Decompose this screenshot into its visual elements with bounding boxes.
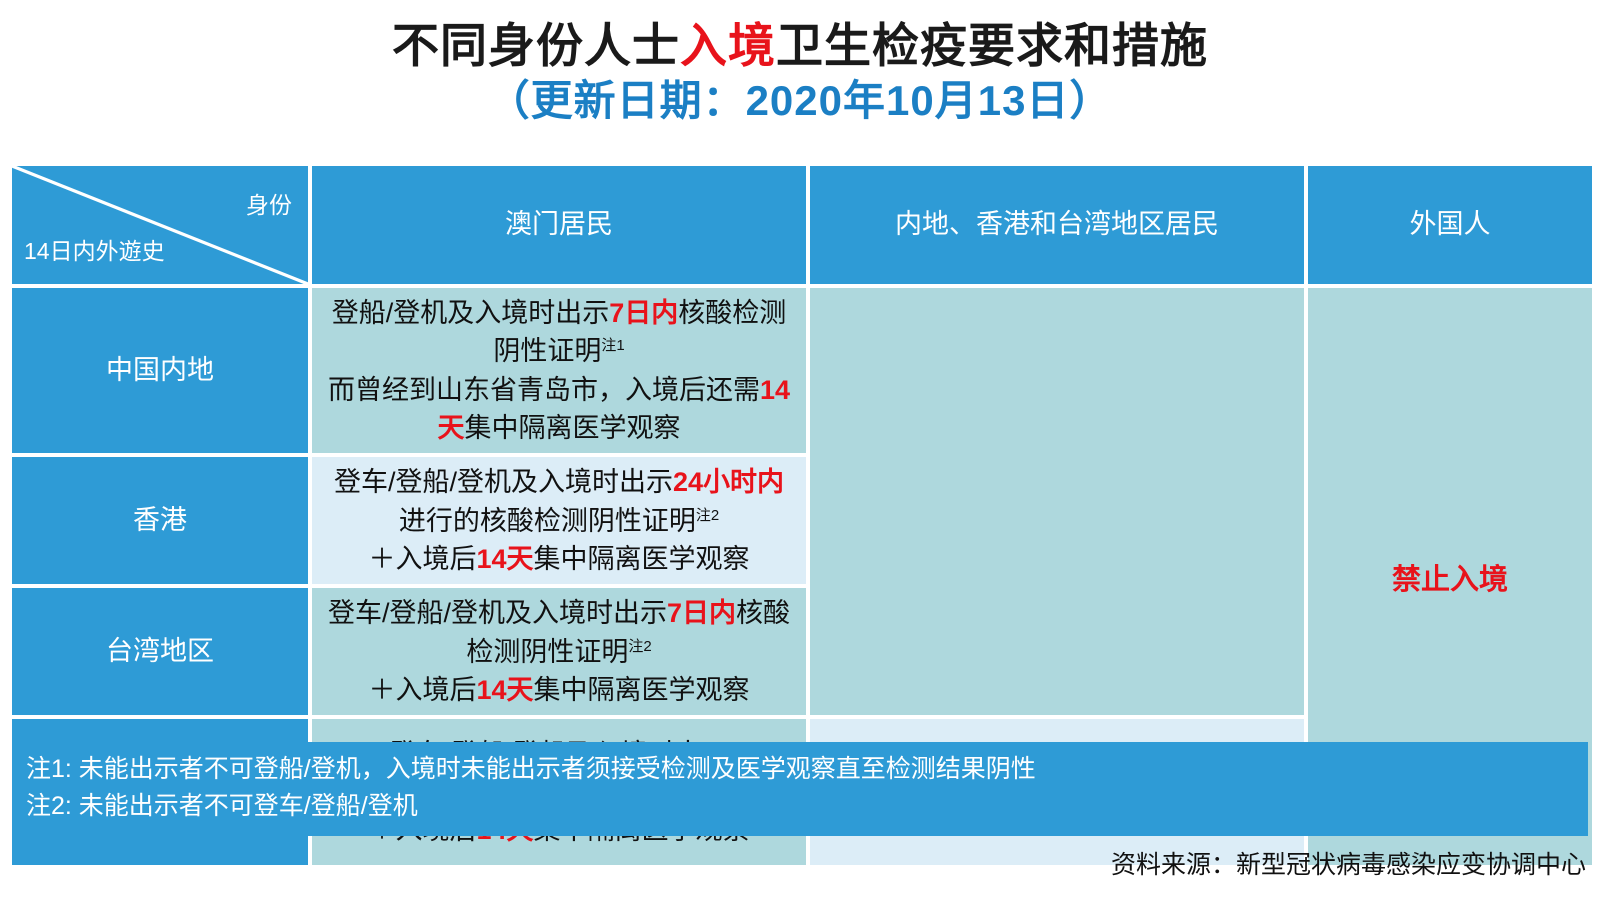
footnote-marker: 注2 xyxy=(628,638,651,655)
cell-text-run: 登车/登船/登机及入境时出示 xyxy=(328,598,667,628)
column-header-macau-residents: 澳门居民 xyxy=(312,166,806,284)
page-title: 不同身份人士入境卫生检疫要求和措施 xyxy=(0,18,1600,73)
column-header-foreigners: 外国人 xyxy=(1308,166,1592,284)
cell-text-run: 集中隔离医学观察 xyxy=(534,544,750,574)
cell-text-run: 进行的核酸检测阴性证明 xyxy=(399,506,696,536)
highlighted-duration: 14天 xyxy=(476,675,533,705)
highlighted-duration: 7日内 xyxy=(609,298,678,328)
cell-line: ＋入境后14天集中隔离医学观察 xyxy=(322,540,796,578)
cell-text-run: ＋入境后 xyxy=(368,675,476,705)
table-header-row: 身份 14日内外遊史 澳门居民 内地、香港和台湾地区居民 外国人 xyxy=(12,166,1592,284)
diagonal-divider-icon xyxy=(12,166,308,284)
row-header-taiwan: 台湾地区 xyxy=(12,588,308,715)
title-text-highlight: 入境 xyxy=(680,19,776,72)
footnotes-block: 注1: 未能出示者不可登船/登机，入境时未能出示者须接受检测及医学观察直至检测结… xyxy=(12,742,1588,836)
title-text-after: 卫生检疫要求和措施 xyxy=(776,19,1208,72)
title-text-before: 不同身份人士 xyxy=(392,19,680,72)
banned-label: 禁止入境 xyxy=(1392,564,1508,596)
footnote-1: 注1: 未能出示者不可登船/登机，入境时未能出示者须接受检测及医学观察直至检测结… xyxy=(26,751,1574,788)
cell-content: 登车/登船/登机及入境时出示24小时内进行的核酸检测阴性证明注2＋入境后14天集… xyxy=(312,457,806,584)
column-header-mainland-hk-tw-residents: 内地、香港和台湾地区居民 xyxy=(810,166,1304,284)
cell-text-run: 而曾经到山东省青岛市，入境后还需 xyxy=(328,375,760,405)
cell-text-run: 集中隔离医学观察 xyxy=(465,413,681,443)
cell-line: 登车/登船/登机及入境时出示24小时内进行的核酸检测阴性证明注2 xyxy=(322,463,796,540)
row-header-mainland-china: 中国内地 xyxy=(12,288,308,453)
source-attribution: 资料来源：新型冠状病毒感染应变协调中心 xyxy=(1111,845,1586,881)
cell-macau-taiwan: 登车/登船/登机及入境时出示7日内核酸检测阴性证明注2＋入境后14天集中隔离医学… xyxy=(312,588,806,715)
cell-text-run: ＋入境后 xyxy=(368,544,476,574)
page-subtitle: （更新日期：2020年10月13日） xyxy=(0,75,1600,128)
footnote-marker: 注1 xyxy=(601,337,624,354)
cell-line: ＋入境后14天集中隔离医学观察 xyxy=(322,671,796,709)
table-row: 中国内地 登船/登机及入境时出示7日内核酸检测阴性证明注1而曾经到山东省青岛市，… xyxy=(12,288,1592,453)
cell-content: 登车/登船/登机及入境时出示7日内核酸检测阴性证明注2＋入境后14天集中隔离医学… xyxy=(312,588,806,715)
highlighted-duration: 24小时内 xyxy=(673,467,784,497)
corner-label-identity: 身份 xyxy=(246,186,292,220)
footnote-marker: 注2 xyxy=(696,507,719,524)
corner-label-travel-history: 14日内外遊史 xyxy=(24,232,165,266)
cell-text-run: 登船/登机及入境时出示 xyxy=(332,298,610,328)
title-block: 不同身份人士入境卫生检疫要求和措施 （更新日期：2020年10月13日） xyxy=(0,0,1600,128)
cell-line: 登船/登机及入境时出示7日内核酸检测阴性证明注1 xyxy=(322,294,796,371)
cell-text-run: 登车/登船/登机及入境时出示 xyxy=(334,467,673,497)
cell-line: 登车/登船/登机及入境时出示7日内核酸检测阴性证明注2 xyxy=(322,594,796,671)
cell-line: 而曾经到山东省青岛市，入境后还需14天集中隔离医学观察 xyxy=(322,371,796,448)
corner-header-cell: 身份 14日内外遊史 xyxy=(12,166,308,284)
cell-other-residents-rows-1-3 xyxy=(810,288,1304,715)
cell-macau-mainland-china: 登船/登机及入境时出示7日内核酸检测阴性证明注1而曾经到山东省青岛市，入境后还需… xyxy=(312,288,806,453)
cell-text-run: 集中隔离医学观察 xyxy=(534,675,750,705)
footnote-2: 注2: 未能出示者不可登车/登船/登机 xyxy=(26,788,1574,825)
row-header-hong-kong: 香港 xyxy=(12,457,308,584)
highlighted-duration: 14天 xyxy=(476,544,533,574)
cell-macau-hong-kong: 登车/登船/登机及入境时出示24小时内进行的核酸检测阴性证明注2＋入境后14天集… xyxy=(312,457,806,584)
cell-content: 登船/登机及入境时出示7日内核酸检测阴性证明注1而曾经到山东省青岛市，入境后还需… xyxy=(312,288,806,453)
highlighted-duration: 7日内 xyxy=(667,598,736,628)
